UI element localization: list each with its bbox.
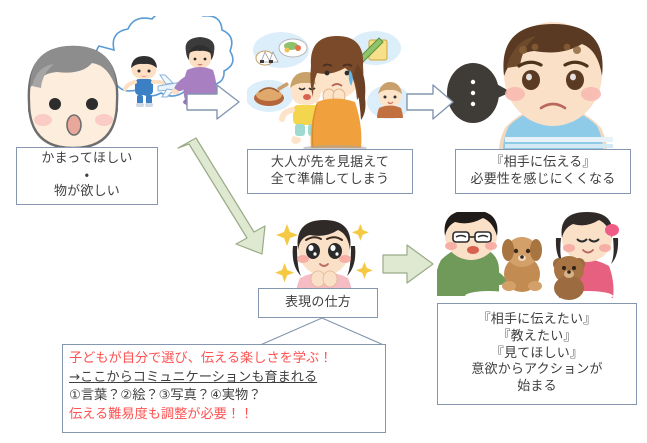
learn-line-1: 子どもが自分で選び、伝える楽しさを学ぶ！ [69,350,385,369]
dog-stuffed-animal [502,237,542,292]
worried-mother-with-child-illustration [247,18,413,150]
sad-boy [499,22,613,150]
box-adult-prepares-everything: 大人が先を見据えて 全て準備してしまう [247,149,413,194]
diagram-canvas: かまってほしい ・ 物が欲しい 大人が先を見据えて 全て準備してしまう 『相手に… [0,0,647,443]
arrow-need-to-adult [185,82,241,122]
learn-line-2: →ここからコミュニケーションも育まれる [69,369,385,388]
learn-line-3: ①言葉？②絵？③写真？④実物？ [69,387,385,406]
silent-sad-boy-illustration [443,18,643,150]
girl-hands-clasped [293,220,356,294]
box-learning-callout: 子どもが自分で選び、伝える楽しさを学ぶ！ →ここからコミュニケーションも育まれる… [62,344,386,433]
box-need-attention-and-things: かまってほしい ・ 物が欲しい [16,147,158,205]
arrow-adult-to-notneed [405,82,455,122]
adult-and-girl-with-stuffed-animals-illustration [437,212,637,304]
food-thought-bubble-left [247,80,293,112]
adult-with-glasses [437,212,513,301]
sparkling-girl-illustration [272,214,376,294]
box-action-starts-from-motivation: 『相手に伝えたい』 『教えたい』 『見てほしい』 意欲からアクションが 始まる [437,303,637,405]
food-thought-bubble-top [253,32,309,68]
silence-speech-bubble [447,63,511,123]
big-child-face [29,46,117,148]
box-how-to-express: 表現の仕方 [258,288,378,318]
learn-line-4: 伝える難易度も調整が必要！！ [69,406,385,425]
arrow-howto-to-action [381,241,435,287]
worried-mother [303,36,367,150]
box-no-need-to-tell: 『相手に伝える』 必要性を感じにくくなる [455,149,631,194]
bear-stuffed-animal [553,256,585,300]
